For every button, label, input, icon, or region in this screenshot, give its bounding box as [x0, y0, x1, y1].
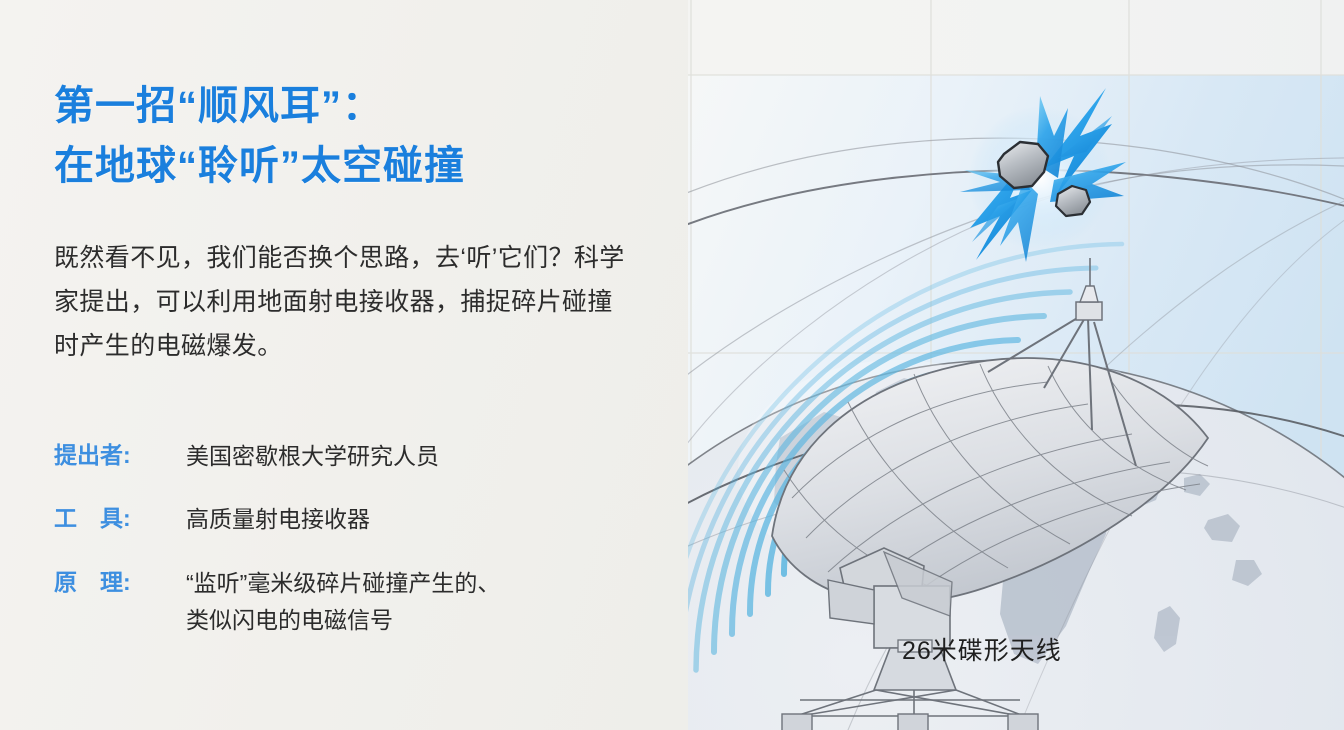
antenna-caption: 26米碟形天线	[902, 631, 1062, 667]
spec-list: 提出者: 美国密歇根大学研究人员 工 具: 高质量射电接收器 原 理: “监听”…	[54, 438, 654, 639]
spec-label-principle: 原 理:	[54, 565, 186, 600]
spec-value-line: 美国密歇根大学研究人员	[186, 438, 654, 475]
spec-label-proposer: 提出者:	[54, 438, 186, 473]
spec-value-tool: 高质量射电接收器	[186, 501, 654, 538]
spec-label-tool: 工 具:	[54, 501, 186, 536]
title-line-2: 在地球“聆听”太空碰撞	[54, 136, 664, 196]
spec-value-line: 类似闪电的电磁信号	[186, 602, 654, 639]
spec-row-proposer: 提出者: 美国密歇根大学研究人员	[54, 438, 654, 475]
spec-value-principle: “监听”毫米级碎片碰撞产生的、 类似闪电的电磁信号	[186, 565, 654, 640]
top-band	[688, 0, 1344, 75]
illustration-panel: 26米碟形天线	[688, 0, 1344, 730]
page-title: 第一招“顺风耳”： 在地球“聆听”太空碰撞	[54, 76, 664, 196]
slide-canvas: 第一招“顺风耳”： 在地球“聆听”太空碰撞 既然看不见，我们能否换个思路，去‘听…	[0, 0, 1344, 730]
spec-row-principle: 原 理: “监听”毫米级碎片碰撞产生的、 类似闪电的电磁信号	[54, 565, 654, 640]
spec-row-tool: 工 具: 高质量射电接收器	[54, 501, 654, 538]
spec-value-proposer: 美国密歇根大学研究人员	[186, 438, 654, 475]
spec-value-line: 高质量射电接收器	[186, 501, 654, 538]
left-text-panel: 第一招“顺风耳”： 在地球“聆听”太空碰撞 既然看不见，我们能否换个思路，去‘听…	[0, 0, 688, 730]
spec-value-line: “监听”毫米级碎片碰撞产生的、	[186, 565, 654, 602]
body-paragraph: 既然看不见，我们能否换个思路，去‘听’它们？科学家提出，可以利用地面射电接收器，…	[54, 237, 634, 368]
title-line-1: 第一招“顺风耳”：	[54, 76, 664, 136]
